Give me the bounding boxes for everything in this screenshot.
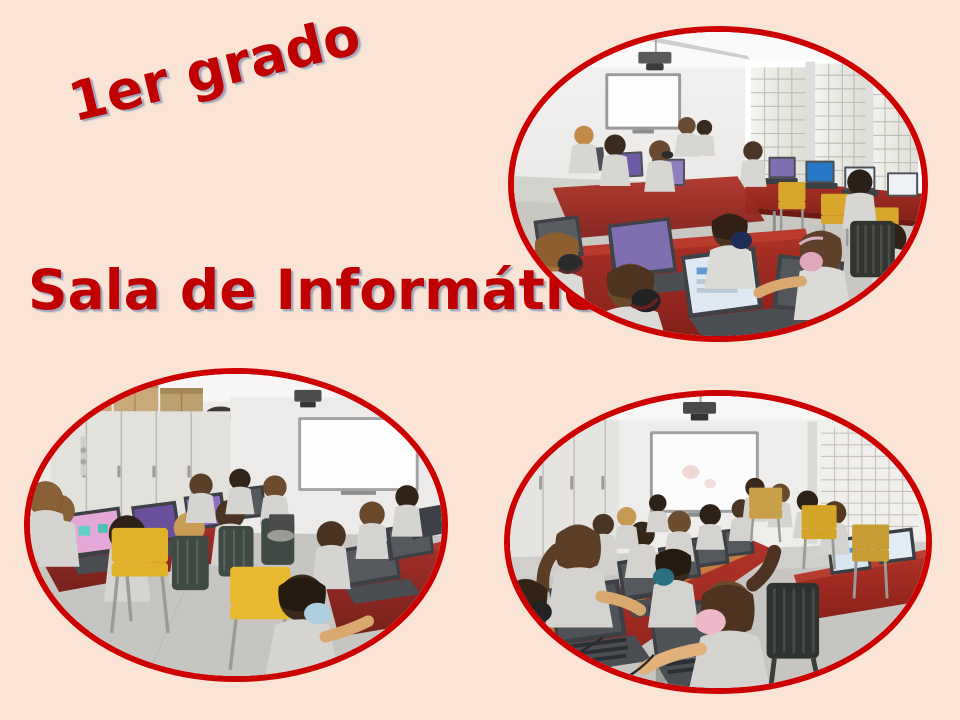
page-title-grade: 1er grado: [63, 4, 367, 135]
photo-oval-computer-lab-long-table: [504, 390, 932, 694]
photo-oval-computer-lab-overview: [508, 26, 928, 342]
classroom-cabinets-illustration: [30, 374, 442, 676]
photo-oval-computer-lab-cabinets: [24, 368, 448, 682]
classroom-overview-illustration: [514, 32, 922, 336]
classroom-long-table-illustration: [510, 396, 926, 688]
slide-canvas: 1er grado Sala de Informática: [0, 0, 960, 720]
